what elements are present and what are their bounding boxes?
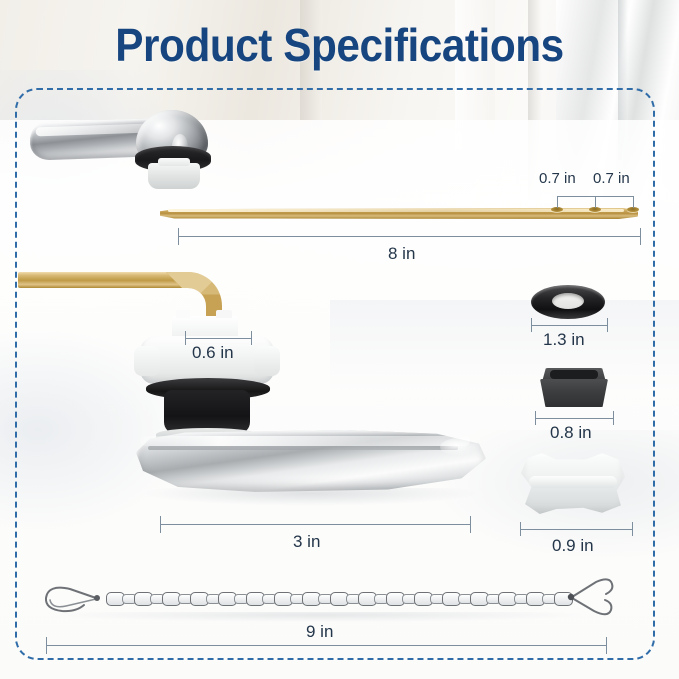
- dim-tick-chain-right: [606, 637, 607, 654]
- brass-rod-horizontal-segment: [18, 272, 188, 288]
- dim-tick-rod-right: [640, 228, 641, 245]
- chrome-flush-handle-top: [30, 108, 210, 170]
- washer-center-hole: [552, 293, 584, 309]
- dim-tick-washer-right: [607, 318, 608, 332]
- dim-tick-rod-left: [178, 228, 179, 245]
- dim-tick-gasket-left: [535, 411, 536, 425]
- brass-lift-rod: [160, 206, 638, 219]
- lever-tip-highlight: [440, 438, 480, 456]
- dim-tick-mount-right: [251, 331, 252, 345]
- handle-plastic-nut: [148, 163, 200, 189]
- dim-label-hole-spacing-2: 0.7 in: [593, 170, 630, 187]
- dim-label-mount-width: 0.6 in: [192, 343, 234, 363]
- wing-nut-band: [529, 476, 617, 488]
- dim-line-washer-diameter: [531, 325, 607, 326]
- lever-top-rim: [140, 436, 470, 446]
- dim-tick-lever-left: [160, 516, 161, 533]
- dim-tick-hole-c: [633, 196, 634, 208]
- lever-edge-shadow: [148, 446, 458, 450]
- black-rubber-gasket: [540, 368, 608, 408]
- dim-tick-hole-a: [557, 196, 558, 208]
- chain-hook-clip: [40, 578, 102, 616]
- dim-tick-lever-right: [470, 516, 471, 533]
- product-specifications-image: Product Specifications 0.7 in 0.7 in 8 i…: [0, 0, 679, 679]
- dim-line-wingnut-width: [520, 529, 632, 530]
- dim-label-washer-diameter: 1.3 in: [543, 330, 585, 350]
- white-plastic-mount: [132, 316, 292, 446]
- gasket-body: [540, 379, 608, 407]
- dim-tick-mount-left: [185, 331, 186, 345]
- dim-line-rod-length: [178, 236, 640, 237]
- dim-tick-wingnut-right: [632, 522, 633, 536]
- dim-label-gasket-width: 0.8 in: [550, 423, 592, 443]
- dim-label-wingnut-width: 0.9 in: [552, 536, 594, 556]
- dim-line-gasket-width: [535, 418, 613, 419]
- white-plastic-wing-nut: [521, 452, 625, 514]
- chain-clevis-clip: [566, 576, 620, 618]
- mount-cap: [172, 316, 238, 338]
- dim-label-chain-length: 9 in: [306, 622, 333, 642]
- dim-line-lever-length: [160, 524, 470, 525]
- dim-label-hole-spacing-1: 0.7 in: [539, 170, 576, 187]
- dim-line-mount-width: [185, 338, 251, 339]
- dim-tick-hole-b: [595, 196, 596, 208]
- gasket-center-opening: [550, 370, 598, 379]
- background-shade-top: [330, 300, 679, 390]
- dim-tick-wingnut-left: [520, 522, 521, 536]
- chrome-flush-lever-large: [136, 430, 486, 500]
- dim-tick-chain-left: [46, 637, 47, 654]
- dim-tick-washer-left: [531, 318, 532, 332]
- dim-label-rod-length: 8 in: [388, 244, 415, 264]
- metal-lift-chain: [40, 576, 620, 620]
- dim-label-lever-length: 3 in: [293, 532, 320, 552]
- black-rubber-washer: [531, 285, 605, 319]
- page-title: Product Specifications: [27, 18, 652, 72]
- dim-line-chain-length: [46, 645, 606, 646]
- dim-tick-gasket-right: [613, 411, 614, 425]
